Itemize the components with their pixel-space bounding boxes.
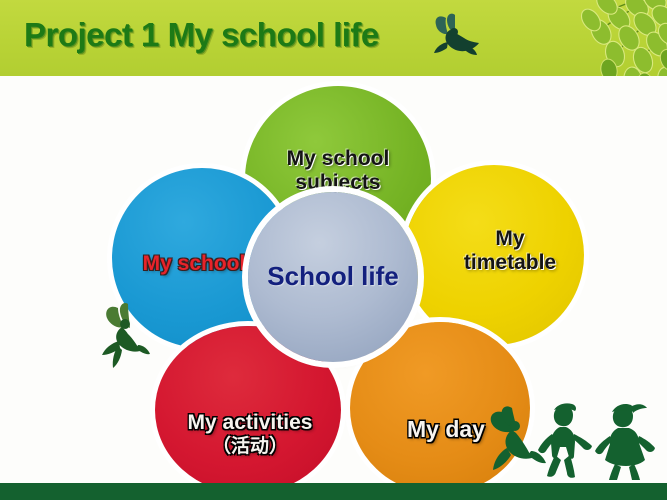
petal-label-school: My school	[137, 252, 252, 276]
petal-label-timetable: My timetable	[458, 227, 562, 274]
petal-my-timetable[interactable]: My timetable	[404, 165, 584, 345]
center-node-school-life[interactable]: School life	[248, 192, 418, 362]
fairy-silhouette-icon	[92, 300, 158, 370]
ground-strip	[0, 483, 667, 500]
slide-canvas: Project 1 My school life	[0, 0, 667, 500]
petal-label-activities: My activities （活动）	[182, 411, 319, 458]
petal-label-subjects: My school subjects	[281, 147, 396, 194]
running-children-silhouette-icon	[484, 398, 667, 480]
center-node-label: School life	[261, 262, 404, 292]
petal-label-day: My day	[401, 417, 491, 443]
